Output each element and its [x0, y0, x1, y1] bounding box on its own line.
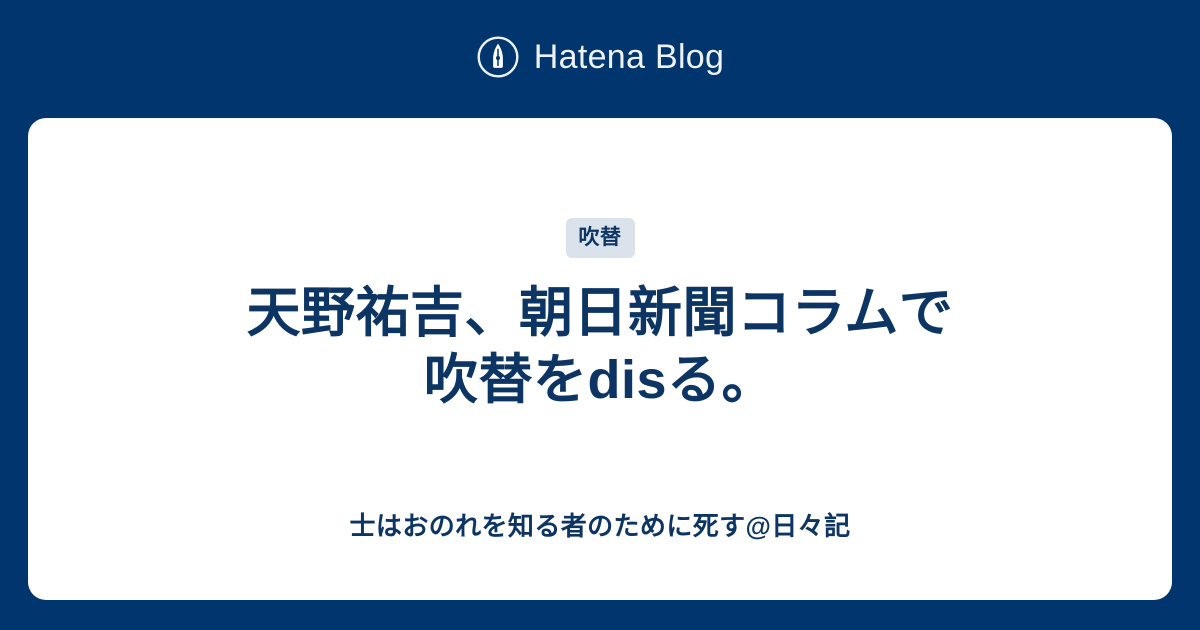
entry-card: 吹替 天野祐吉、朝日新聞コラムで 吹替をdisる。 士はおのれを知る者のために死…	[28, 118, 1172, 600]
entry-title-line-1: 天野祐吉、朝日新聞コラムで	[247, 283, 954, 343]
category-badge[interactable]: 吹替	[566, 218, 635, 258]
entry-title: 天野祐吉、朝日新聞コラムで 吹替をdisる。	[88, 280, 1112, 414]
brand-name-label: Hatena Blog	[534, 40, 724, 74]
ogp-card-root: Hatena Blog 吹替 天野祐吉、朝日新聞コラムで 吹替をdisる。 士は…	[0, 0, 1200, 630]
fountain-pen-nib-in-circle-icon	[476, 35, 520, 79]
brand-header: Hatena Blog	[0, 0, 1200, 118]
blog-name: 士はおのれを知る者のために死す@日々記	[28, 510, 1172, 544]
entry-title-line-2: 吹替をdisる。	[424, 350, 776, 410]
category-row: 吹替	[88, 218, 1112, 258]
